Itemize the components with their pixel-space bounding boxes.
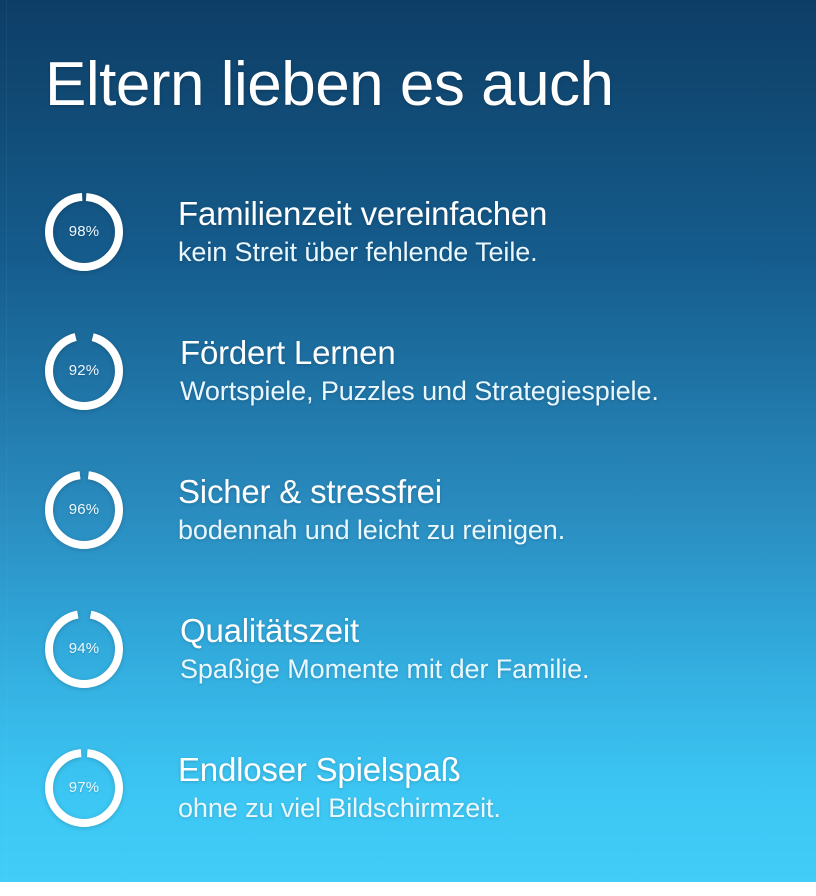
progress-ring-icon: 94% bbox=[44, 609, 124, 689]
list-item-subtitle: Spaßige Momente mit der Familie. bbox=[180, 653, 589, 686]
list-item-text: Endloser Spielspaß ohne zu viel Bildschi… bbox=[138, 751, 501, 825]
list-item-title: Endloser Spielspaß bbox=[178, 751, 501, 790]
progress-ring-icon: 97% bbox=[44, 748, 124, 828]
list-item-title: Familienzeit vereinfachen bbox=[178, 195, 547, 234]
list-item: 94% Qualitätszeit Spaßige Momente mit de… bbox=[0, 579, 816, 718]
bottom-white-strip bbox=[0, 882, 816, 896]
feature-list: 98% Familienzeit vereinfachen kein Strei… bbox=[0, 162, 816, 857]
list-item: 98% Familienzeit vereinfachen kein Strei… bbox=[0, 162, 816, 301]
list-item-title: Qualitätszeit bbox=[180, 612, 589, 651]
page-title: Eltern lieben es auch bbox=[45, 52, 614, 118]
list-item-title: Sicher & stressfrei bbox=[178, 473, 565, 512]
progress-ring-icon: 98% bbox=[44, 192, 124, 272]
list-item-subtitle: Wortspiele, Puzzles und Strategiespiele. bbox=[180, 375, 659, 408]
list-item: 97% Endloser Spielspaß ohne zu viel Bild… bbox=[0, 718, 816, 857]
percent-label: 96% bbox=[44, 470, 124, 550]
progress-ring-icon: 92% bbox=[44, 331, 124, 411]
percent-label: 94% bbox=[44, 609, 124, 689]
progress-ring-icon: 96% bbox=[44, 470, 124, 550]
list-item-subtitle: kein Streit über fehlende Teile. bbox=[178, 236, 547, 269]
list-item-subtitle: ohne zu viel Bildschirmzeit. bbox=[178, 792, 501, 825]
percent-label: 97% bbox=[44, 748, 124, 828]
list-item: 96% Sicher & stressfrei bodennah und lei… bbox=[0, 440, 816, 579]
promo-poster: Eltern lieben es auch 98% Familienzeit v… bbox=[0, 0, 816, 882]
list-item-subtitle: bodennah und leicht zu reinigen. bbox=[178, 514, 565, 547]
list-item-text: Qualitätszeit Spaßige Momente mit der Fa… bbox=[138, 612, 589, 686]
list-item-text: Familienzeit vereinfachen kein Streit üb… bbox=[138, 195, 547, 269]
list-item: 92% Fördert Lernen Wortspiele, Puzzles u… bbox=[0, 301, 816, 440]
list-item-text: Fördert Lernen Wortspiele, Puzzles und S… bbox=[138, 334, 659, 408]
list-item-text: Sicher & stressfrei bodennah und leicht … bbox=[138, 473, 565, 547]
percent-label: 92% bbox=[44, 331, 124, 411]
list-item-title: Fördert Lernen bbox=[180, 334, 659, 373]
percent-label: 98% bbox=[44, 192, 124, 272]
